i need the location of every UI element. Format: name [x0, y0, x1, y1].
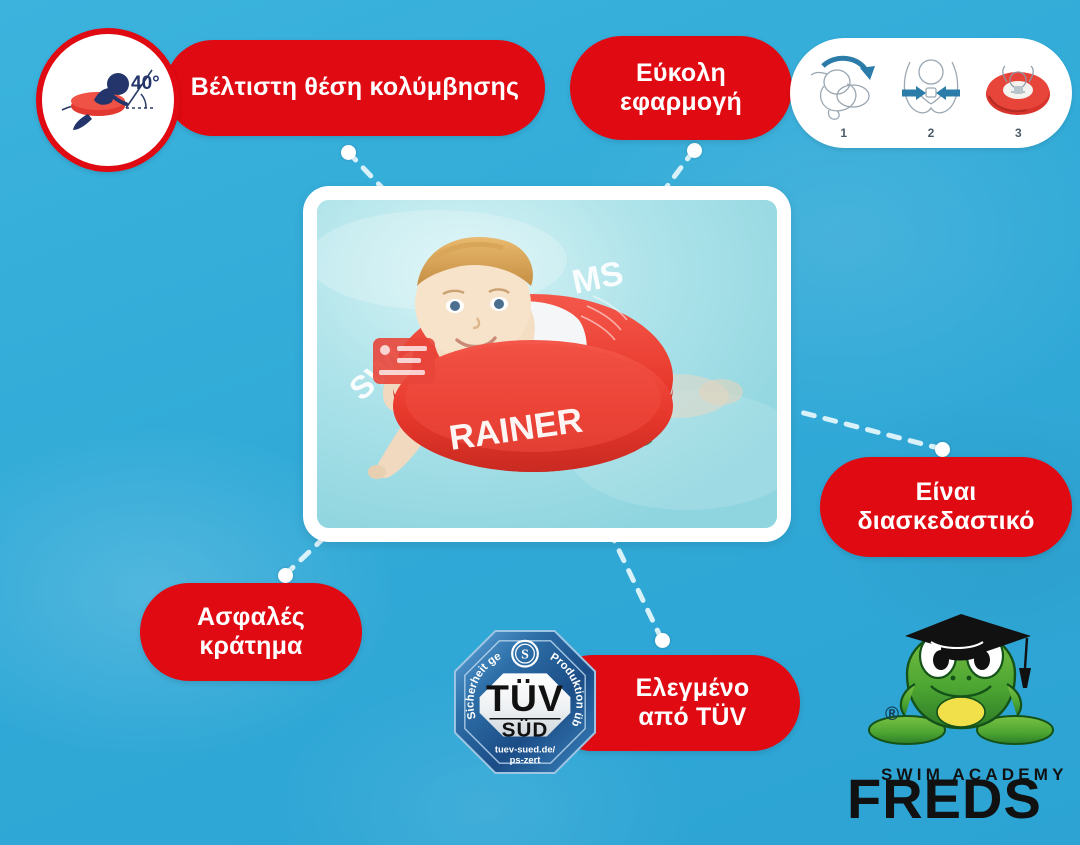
tuv-sub-text: SÜD — [502, 719, 549, 742]
badge-label-tuv-line2: από ΤÜV — [638, 703, 746, 733]
swim-position-40-degrees-icon: 40° — [36, 28, 180, 172]
product-photo-frame: MS SWI RAINER — [303, 186, 791, 542]
badge-optimal-swim-position[interactable]: Βέλτιστη θέση κολύμβησης — [165, 40, 545, 136]
baby-in-swimtrainer-ring-photo: MS SWI RAINER — [317, 200, 777, 528]
connector-dot-optimal-position — [341, 145, 356, 160]
angle-label: 40° — [131, 73, 160, 94]
infographic-canvas: 40° Βέλτιστη θέση κολύμβησης Εύκολη εφαρ… — [0, 0, 1080, 845]
badge-label-is-fun-line2: διασκεδαστικό — [857, 507, 1034, 537]
tuv-main-text: TÜV — [486, 677, 564, 719]
badge-easy-fit[interactable]: Εύκολη εφαρμογή — [570, 36, 792, 140]
tuv-url-line1: tuev-sued.de/ — [495, 744, 556, 754]
badge-safe-grip[interactable]: Ασφαλές κράτημα — [140, 583, 362, 681]
registered-trademark-mark: ® — [885, 704, 899, 726]
step-turn-baby-icon: 1 — [806, 47, 882, 139]
how-to-use-steps-icon: 1 2 — [790, 38, 1072, 148]
badge-label-safe-grip-line1: Ασφαλές — [197, 603, 305, 633]
tuv-seal-letter: S — [521, 647, 529, 662]
badge-label-safe-grip-line2: κράτημα — [199, 632, 302, 662]
freds-wordmark-text: FREDS — [847, 767, 1042, 822]
freds-swim-academy-frog-logo: ® SWIM ACADEMY FREDS — [845, 612, 1073, 824]
badge-label-tuv-line1: Ελεγμένο — [636, 674, 750, 704]
badge-label-is-fun-line1: Είναι — [916, 478, 977, 508]
badge-label-easy-fit-line1: Εύκολη — [636, 59, 726, 89]
connector-line-is-fun — [800, 412, 942, 449]
badge-is-fun[interactable]: Είναι διασκεδαστικό — [820, 457, 1072, 557]
step-number-3: 3 — [1015, 127, 1022, 139]
connector-dot-tuv — [655, 633, 670, 648]
step-fasten-buckle-icon: 2 — [893, 47, 969, 139]
connector-dot-easy-fit — [687, 143, 702, 158]
connector-dot-safe-grip — [278, 568, 293, 583]
badge-label-optimal-swim-position: Βέλτιστη θέση κολύμβησης — [191, 73, 519, 103]
tuv-sued-certification-icon: Sicherheit geprüft Produktion überwacht … — [452, 628, 598, 776]
connector-dot-is-fun — [935, 442, 950, 457]
tuv-url-line2: ps-zert — [510, 755, 541, 765]
step-number-2: 2 — [928, 127, 935, 139]
badge-label-easy-fit-line2: εφαρμογή — [620, 88, 742, 118]
step-baby-in-ring-icon: 3 — [980, 47, 1056, 139]
step-number-1: 1 — [840, 127, 847, 139]
connector-line-tuv — [614, 540, 662, 640]
